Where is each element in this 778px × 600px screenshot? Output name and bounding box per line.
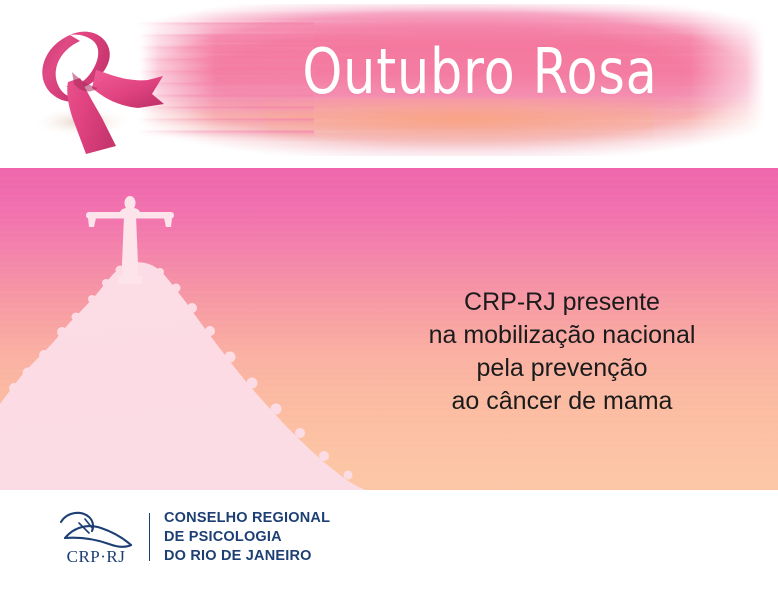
footer-bar: CRP·RJ CONSELHO REGIONAL DE PSICOLOGIA D… [0, 490, 778, 600]
org-name-line-2: DE PSICOLOGIA [164, 528, 330, 547]
crp-rj-logo[interactable]: CRP·RJ CONSELHO REGIONAL DE PSICOLOGIA D… [55, 508, 330, 566]
logo-divider [149, 513, 150, 561]
page-title: Outubro Rosa [287, 36, 672, 108]
org-name-line-3: DO RIO DE JANEIRO [164, 547, 330, 566]
banner-header: Outubro Rosa [0, 0, 778, 168]
message-line-4: ao câncer de mama [392, 385, 732, 418]
message-line-1: CRP-RJ presente [392, 286, 732, 319]
organization-name: CONSELHO REGIONAL DE PSICOLOGIA DO RIO D… [164, 509, 330, 566]
message-line-3: pela prevenção [392, 352, 732, 385]
footer-content: CRP·RJ CONSELHO REGIONAL DE PSICOLOGIA D… [0, 490, 778, 600]
christ-the-redeemer-silhouette [0, 168, 460, 490]
outubro-rosa-poster: Outubro Rosa [0, 0, 778, 600]
message-line-2: na mobilização nacional [392, 319, 732, 352]
campaign-message: CRP-RJ presente na mobilização nacional … [392, 286, 732, 418]
pink-awareness-ribbon-icon [22, 18, 172, 160]
crp-rj-bird-book-logo-icon: CRP·RJ [55, 508, 137, 566]
logo-acronym: CRP·RJ [55, 547, 137, 567]
main-visual-panel: CRP-RJ presente na mobilização nacional … [0, 168, 778, 490]
org-name-line-1: CONSELHO REGIONAL [164, 509, 330, 528]
